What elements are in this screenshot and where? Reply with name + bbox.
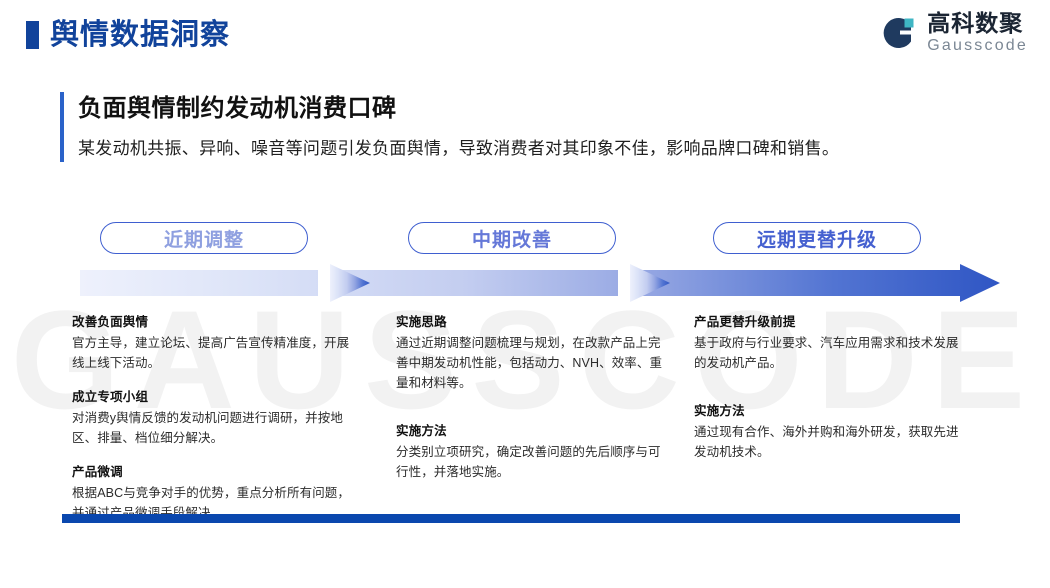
detail-column-mid-term: 实施思路 通过近期调整问题梳理与规划，在改款产品上完善中期发动机性能，包括动力、…	[396, 312, 666, 482]
detail-column-near-term: 改善负面舆情 官方主导，建立论坛、提高广告宣传精准度，开展线上线下活动。 成立专…	[72, 312, 357, 523]
slide-root: GAUSSCODE 舆情数据洞察 高科数聚 Gausscode 负面舆情制约发动…	[0, 0, 1050, 588]
lead-block: 负面舆情制约发动机消费口碑 某发动机共振、异响、噪音等问题引发负面舆情，导致消费…	[60, 92, 978, 162]
slide-header: 舆情数据洞察 高科数聚 Gausscode	[0, 0, 1050, 70]
stage-pill-group: 近期调整 中期改善 远期更替升级	[0, 222, 1050, 258]
page-title: 舆情数据洞察	[50, 15, 230, 55]
brand-name-cn: 高科数聚	[927, 12, 1028, 35]
detail-block-title: 改善负面舆情	[72, 312, 357, 332]
stage-pill-near-term[interactable]: 近期调整	[100, 222, 308, 254]
detail-block-body: 基于政府与行业要求、汽车应用需求和技术发展的发动机产品。	[694, 333, 966, 373]
detail-block-body: 分类别立项研究，确定改善问题的先后顺序与可行性，并落地实施。	[396, 442, 666, 482]
detail-block-title: 实施方法	[396, 421, 666, 441]
detail-block-title: 产品更替升级前提	[694, 312, 966, 332]
detail-block-title: 成立专项小组	[72, 387, 357, 407]
detail-block: 成立专项小组 对消费y舆情反馈的发动机问题进行调研，并按地区、排量、档位细分解决…	[72, 387, 357, 448]
lead-subtitle: 某发动机共振、异响、噪音等问题引发负面舆情，导致消费者对其印象不佳，影响品牌口碑…	[78, 136, 978, 162]
gausscode-logo-icon	[878, 13, 918, 53]
footer-accent-bar	[62, 514, 960, 523]
detail-block-body: 官方主导，建立论坛、提高广告宣传精准度，开展线上线下活动。	[72, 333, 357, 373]
detail-block-title: 实施方法	[694, 401, 966, 421]
detail-block: 产品更替升级前提 基于政府与行业要求、汽车应用需求和技术发展的发动机产品。	[694, 312, 966, 373]
brand-logo: 高科数聚 Gausscode	[878, 12, 1028, 54]
detail-block-title: 实施思路	[396, 312, 666, 332]
detail-column-long-term: 产品更替升级前提 基于政府与行业要求、汽车应用需求和技术发展的发动机产品。 实施…	[694, 312, 966, 462]
detail-block-body: 通过现有合作、海外并购和海外研发，获取先进发动机技术。	[694, 422, 966, 462]
stage-pill-long-term[interactable]: 远期更替升级	[713, 222, 921, 254]
stage-pill-mid-term[interactable]: 中期改善	[408, 222, 616, 254]
detail-block: 改善负面舆情 官方主导，建立论坛、提高广告宣传精准度，开展线上线下活动。	[72, 312, 357, 373]
timeline-arrow-icon	[80, 264, 1000, 302]
brand-name-en: Gausscode	[927, 38, 1028, 54]
detail-block: 实施方法 通过现有合作、海外并购和海外研发，获取先进发动机技术。	[694, 401, 966, 462]
detail-block-body: 对消费y舆情反馈的发动机问题进行调研，并按地区、排量、档位细分解决。	[72, 408, 357, 448]
detail-block: 实施思路 通过近期调整问题梳理与规划，在改款产品上完善中期发动机性能，包括动力、…	[396, 312, 666, 393]
detail-block-title: 产品微调	[72, 462, 357, 482]
header-bullet-icon	[26, 21, 39, 49]
lead-title: 负面舆情制约发动机消费口碑	[78, 92, 978, 126]
brand-logo-text: 高科数聚 Gausscode	[927, 12, 1028, 54]
detail-block: 实施方法 分类别立项研究，确定改善问题的先后顺序与可行性，并落地实施。	[396, 421, 666, 482]
detail-block-body: 通过近期调整问题梳理与规划，在改款产品上完善中期发动机性能，包括动力、NVH、效…	[396, 333, 666, 393]
